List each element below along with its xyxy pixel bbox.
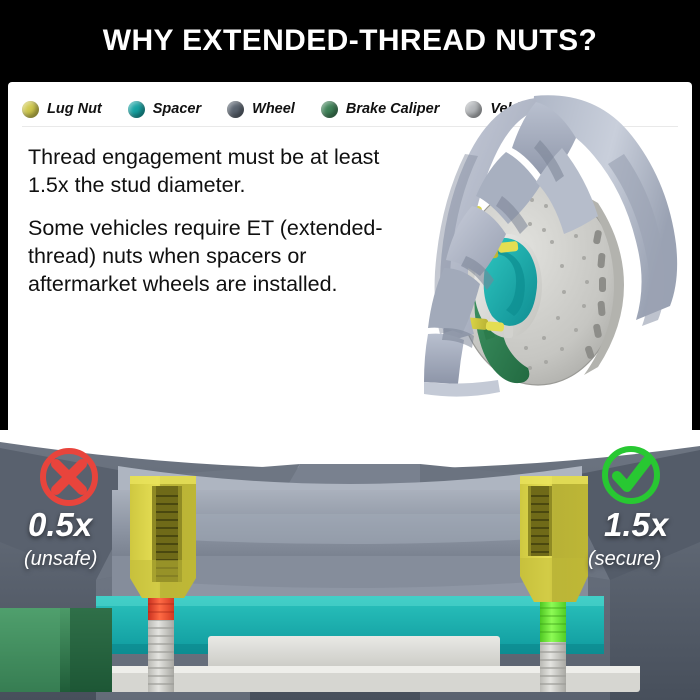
legend-label-wheel: Wheel [252,101,295,117]
check-icon [600,444,662,506]
unsafe-ratio-note: (unsafe) [24,548,97,571]
thread-engagement-comparison: 0.5x (unsafe) 1.5x (secure) [0,430,700,700]
legend-item-wheel: Wheel [227,101,295,118]
cross-icon [38,446,100,508]
legend-dot-wheel-icon [227,101,244,118]
unsafe-ratio-value: 0.5x [28,506,92,544]
legend-label-lug-nut: Lug Nut [47,101,102,117]
legend-dot-spacer-icon [128,101,145,118]
body-paragraph-2: Some vehicles require ET (extended-threa… [28,215,403,298]
legend-item-spacer: Spacer [128,101,201,118]
legend-label-spacer: Spacer [153,101,201,117]
body-paragraph-1: Thread engagement must be at least 1.5x … [28,144,403,199]
secure-ratio-value: 1.5x [604,506,668,544]
legend-dot-lug-nut-icon [22,101,39,118]
wheel-brake-assembly-illustration [386,90,692,430]
legend-item-lug-nut: Lug Nut [22,101,102,118]
secure-ratio-note: (secure) [588,548,661,571]
title-bar: WHY EXTENDED-THREAD NUTS? [0,0,700,82]
brake-caliper-block [0,608,112,692]
infographic-root: WHY EXTENDED-THREAD NUTS? Lug Nut Spacer… [0,0,700,700]
body-copy: Thread engagement must be at least 1.5x … [28,144,403,315]
info-card: Lug Nut Spacer Wheel Brake Caliper Vehic… [8,82,692,434]
legend-dot-brake-caliper-icon [321,101,338,118]
page-title: WHY EXTENDED-THREAD NUTS? [103,24,597,58]
